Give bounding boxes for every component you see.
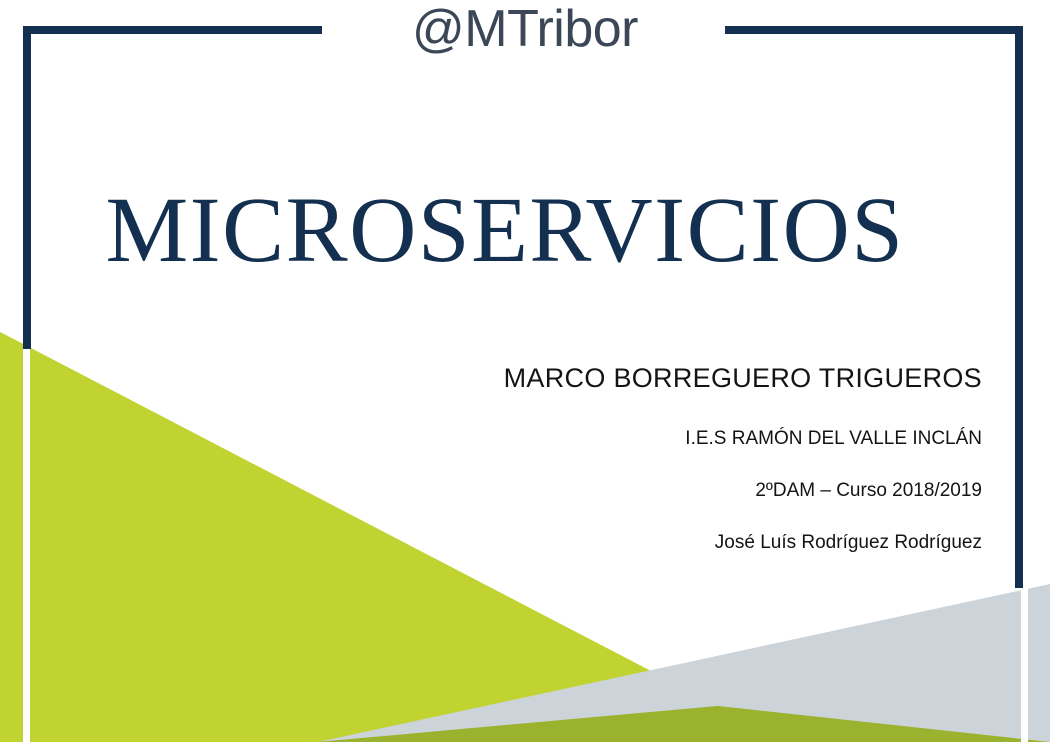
presentation-title-slide: @MTribor MICROSERVICIOS MARCO BORREGUERO… bbox=[0, 0, 1050, 742]
green-bottom-fill bbox=[0, 700, 722, 742]
triangle-overlap-wedge bbox=[318, 706, 903, 742]
page-title: MICROSERVICIOS bbox=[0, 182, 1010, 280]
frame-gutter-left bbox=[23, 320, 30, 742]
author-handle: @MTribor bbox=[0, 2, 1050, 57]
bracket-top-right-vertical bbox=[1015, 26, 1023, 588]
frame-gutter-right bbox=[1021, 575, 1028, 742]
school-name: I.E.S RAMÓN DEL VALLE INCLÁN bbox=[504, 428, 982, 451]
author-name: MARCO BORREGUERO TRIGUEROS bbox=[504, 362, 982, 394]
course-term: 2ºDAM – Curso 2018/2019 bbox=[504, 480, 982, 503]
subtitle-block: MARCO BORREGUERO TRIGUEROS I.E.S RAMÓN D… bbox=[504, 362, 982, 555]
gray-triangle bbox=[318, 584, 1050, 742]
teacher-name: José Luís Rodríguez Rodríguez bbox=[504, 532, 982, 555]
title-block: MICROSERVICIOS bbox=[0, 182, 1010, 280]
triangle-overlap bbox=[318, 706, 1050, 742]
